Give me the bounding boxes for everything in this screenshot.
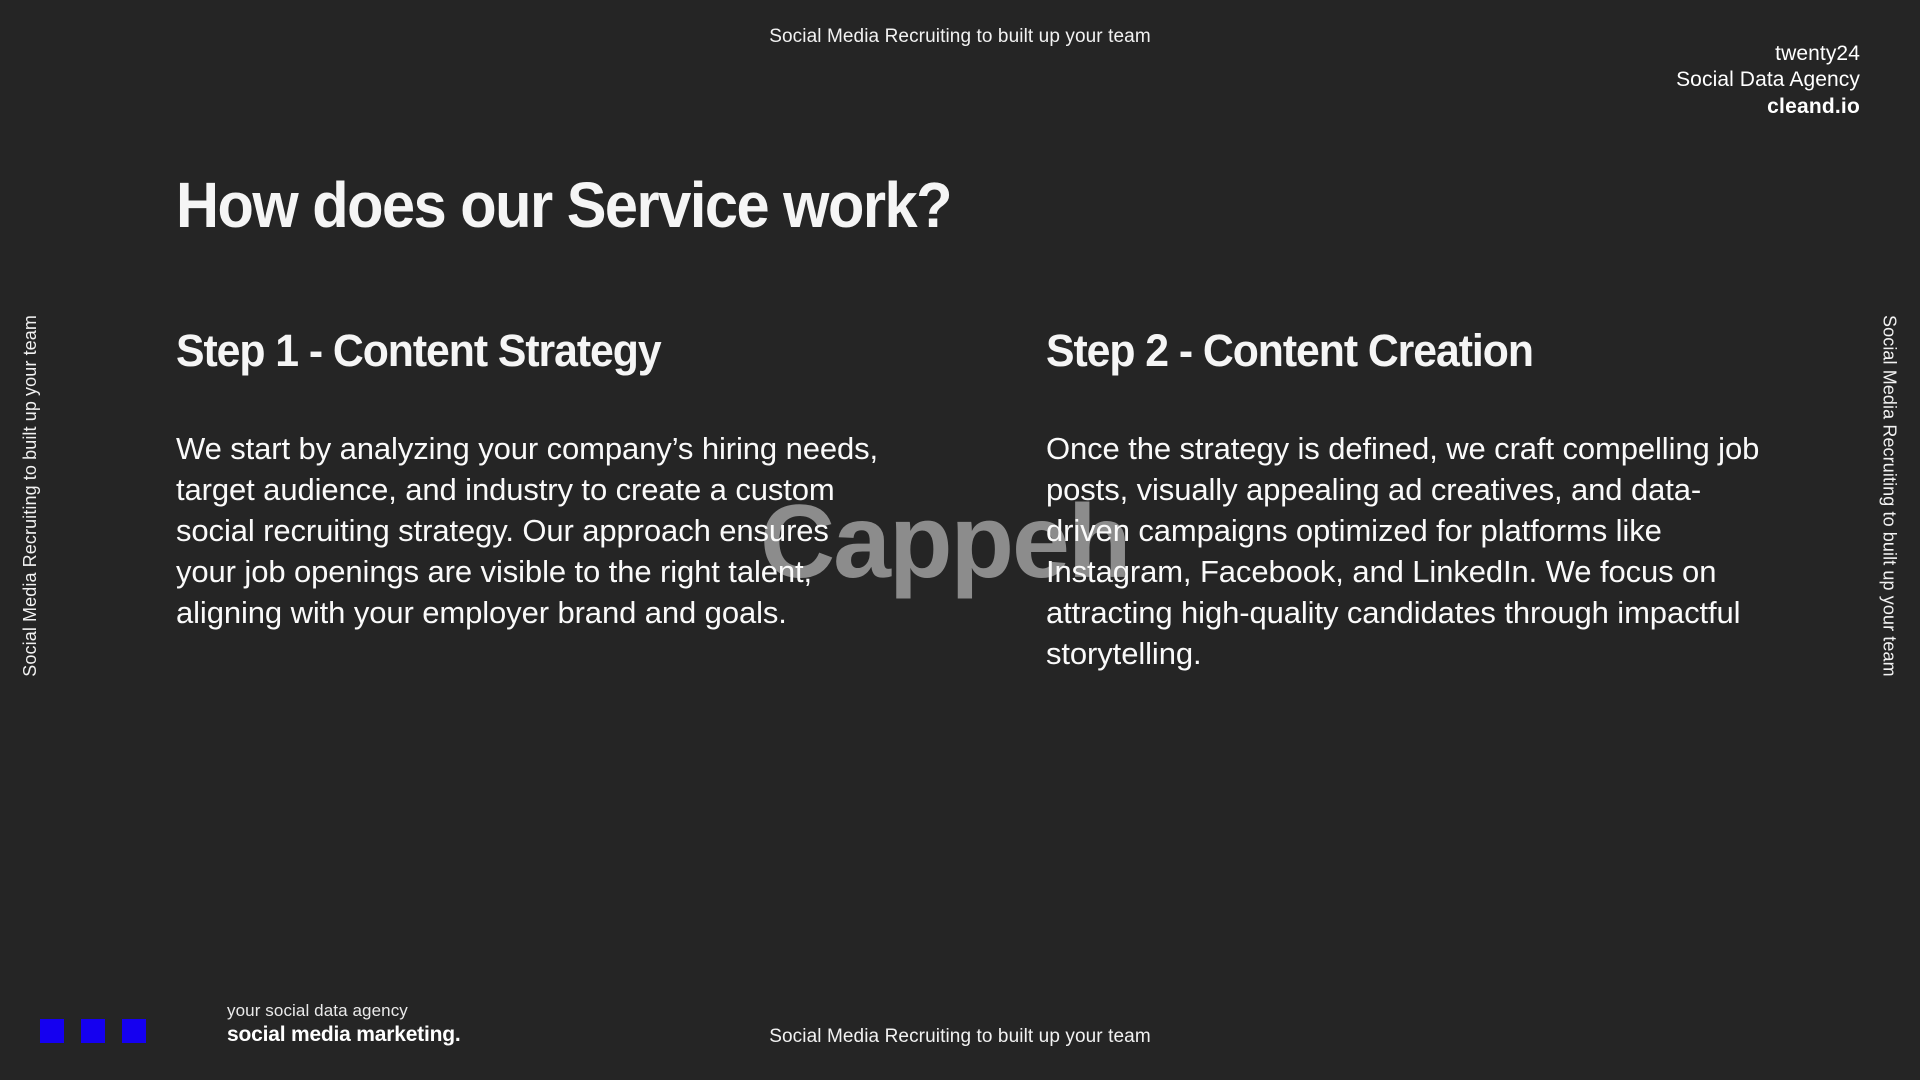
running-header-top: Social Media Recruiting to built up your… (0, 26, 1920, 48)
brand-domain: cleand.io (1676, 94, 1860, 120)
side-label-left: Social Media Recruiting to built up your… (20, 315, 41, 677)
step-card-1: Step 1 - Content Strategy We start by an… (176, 325, 960, 674)
step-1-title: Step 1 - Content Strategy (176, 325, 921, 377)
steps-container: Step 1 - Content Strategy We start by an… (176, 325, 1776, 674)
brand-descriptor: Social Data Agency (1676, 67, 1860, 93)
page-title: How does our Service work? (176, 168, 951, 242)
brand-year: twenty24 (1676, 41, 1860, 67)
step-2-body: Once the strategy is defined, we craft c… (1046, 429, 1776, 674)
step-1-body: We start by analyzing your company’s hir… (176, 429, 886, 634)
side-label-right: Social Media Recruiting to built up your… (1879, 315, 1900, 677)
brand-block: twenty24 Social Data Agency cleand.io (1676, 41, 1860, 120)
running-footer-bottom: Social Media Recruiting to built up your… (0, 1026, 1920, 1048)
step-2-title: Step 2 - Content Creation (1046, 325, 1740, 377)
step-card-2: Step 2 - Content Creation Once the strat… (1046, 325, 1776, 674)
logo-tagline: your social data agency (227, 1000, 461, 1022)
